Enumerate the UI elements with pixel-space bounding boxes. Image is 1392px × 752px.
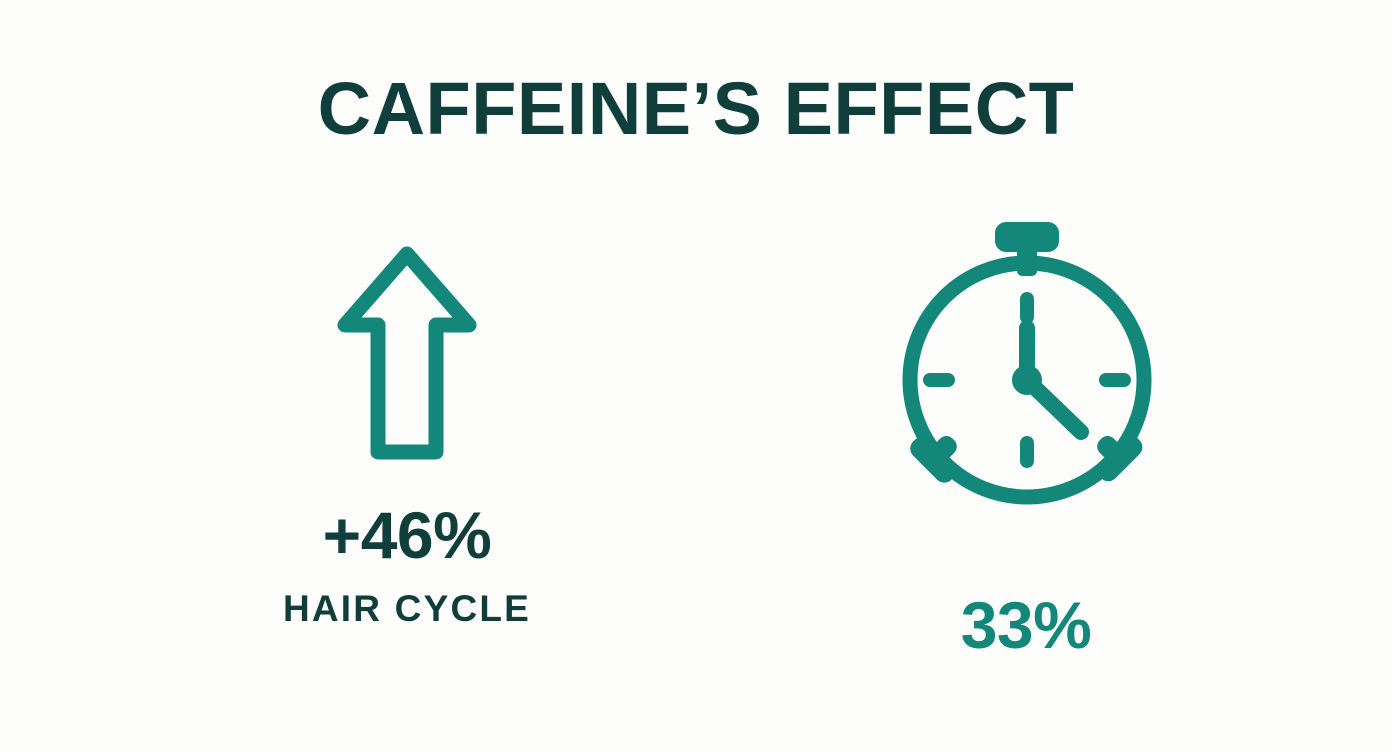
arrow-up-icon-container — [332, 210, 482, 510]
stopwatch-icon-container — [881, 210, 1171, 510]
arrow-up-icon — [332, 240, 482, 480]
stat-value-hair-cycle: +46% — [323, 502, 492, 568]
page-title: CAFFEINE’S EFFECT — [0, 72, 1392, 146]
stat-block-stopwatch: 33% — [846, 210, 1206, 680]
stopwatch-icon — [881, 210, 1171, 510]
stopwatch-center-hub — [1012, 365, 1042, 395]
stat-block-hair-cycle: +46% HAIR CYCLE — [227, 210, 587, 627]
stat-value-stopwatch: 33% — [961, 592, 1092, 658]
infographic-canvas: CAFFEINE’S EFFECT +46% HAIR CYCLE — [0, 0, 1392, 752]
stat-label-hair-cycle: HAIR CYCLE — [283, 590, 531, 627]
